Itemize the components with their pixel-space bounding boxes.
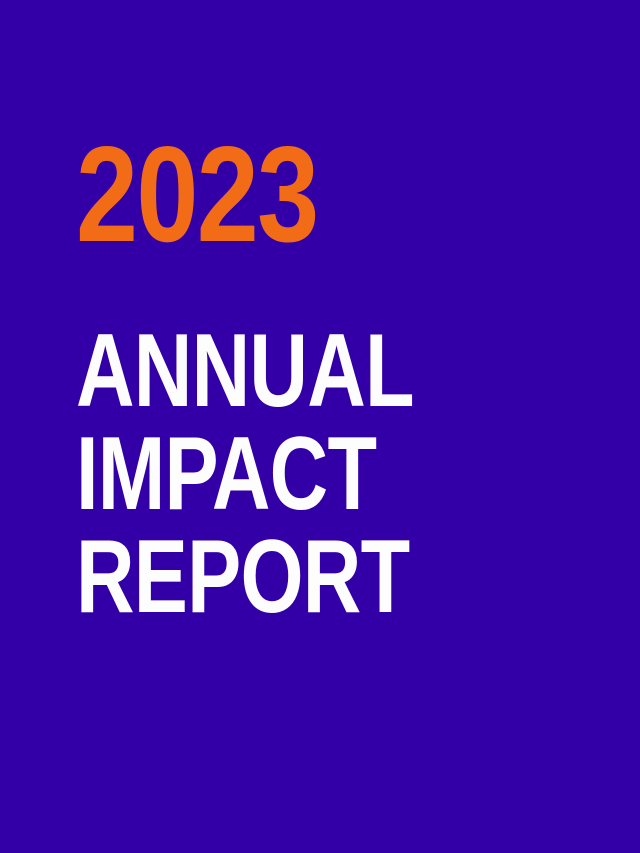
report-headline: ANNUAL IMPACT REPORT	[76, 320, 596, 629]
headline-line-annual: ANNUAL	[76, 320, 482, 423]
headline-line-report: REPORT	[76, 526, 482, 629]
report-year: 2023	[76, 138, 502, 250]
headline-line-impact: IMPACT	[76, 423, 482, 526]
cover-title-block: 2023 ANNUAL IMPACT REPORT	[76, 138, 596, 629]
report-cover-page: 2023 ANNUAL IMPACT REPORT	[0, 0, 640, 853]
